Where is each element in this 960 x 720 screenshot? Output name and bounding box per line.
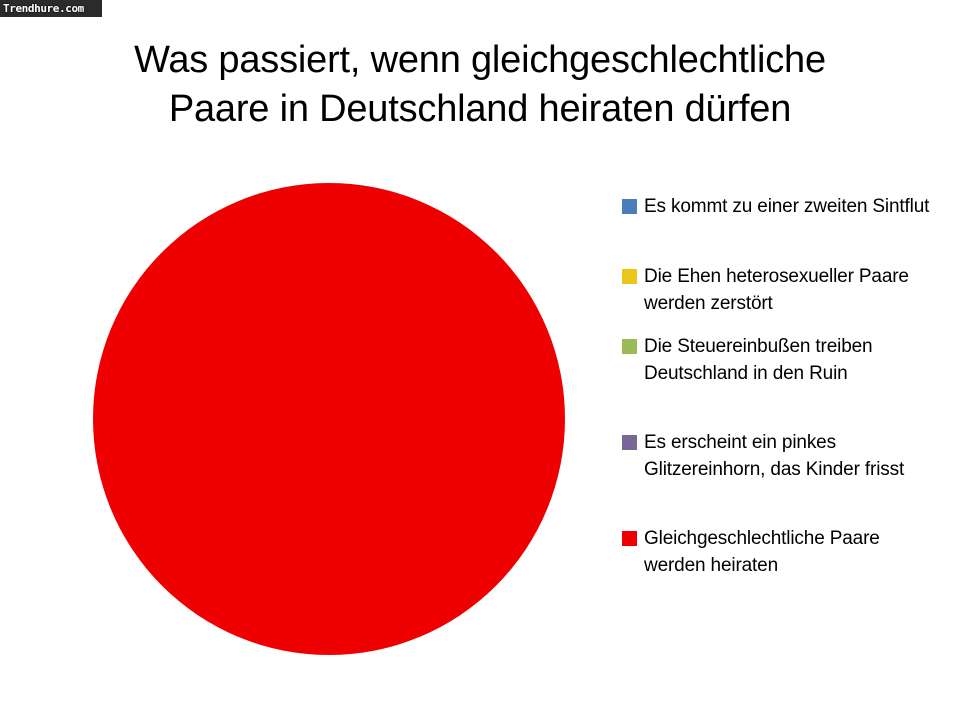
legend-item-sintflut[interactable]: Es kommt zu einer zweiten Sintflut [622,193,942,263]
legend-swatch-yellow-icon [622,269,637,284]
chart-title-line-1: Was passiert, wenn gleichgeschlechtliche [40,36,920,85]
legend-swatch-purple-icon [622,435,637,450]
watermark-text: Trendhure.com [3,3,84,14]
legend-item-steuereinbussen[interactable]: Die Steuereinbußen treiben Deutschland i… [622,333,942,429]
pie-chart [93,183,565,655]
chart-canvas: Trendhure.com Was passiert, wenn gleichg… [0,0,960,720]
legend-swatch-blue-icon [622,199,637,214]
legend-item-ehen-zerstoert[interactable]: Die Ehen heterosexueller Paare werden ze… [622,263,942,333]
legend-label-paare-heiraten: Gleichgeschlechtliche Paare werden heira… [644,525,942,579]
legend-label-ehen-zerstoert: Die Ehen heterosexueller Paare werden ze… [644,263,942,317]
legend-label-steuereinbussen: Die Steuereinbußen treiben Deutschland i… [644,333,942,387]
pie-plot-area [60,165,600,685]
chart-legend: Es kommt zu einer zweiten Sintflut Die E… [622,193,942,579]
legend-item-glitzereinhorn[interactable]: Es erscheint ein pinkes Glitzereinhorn, … [622,429,942,525]
legend-swatch-red-icon [622,531,637,546]
chart-title-line-2: Paare in Deutschland heiraten dürfen [40,85,920,134]
legend-label-glitzereinhorn: Es erscheint ein pinkes Glitzereinhorn, … [644,429,942,483]
pie-slice-gleichgeschlechtliche-paare-werden-heiraten[interactable] [93,183,565,655]
watermark-badge: Trendhure.com [0,0,102,17]
chart-title: Was passiert, wenn gleichgeschlechtliche… [40,36,920,134]
legend-label-sintflut: Es kommt zu einer zweiten Sintflut [644,193,942,220]
legend-item-paare-heiraten[interactable]: Gleichgeschlechtliche Paare werden heira… [622,525,942,579]
legend-swatch-green-icon [622,339,637,354]
